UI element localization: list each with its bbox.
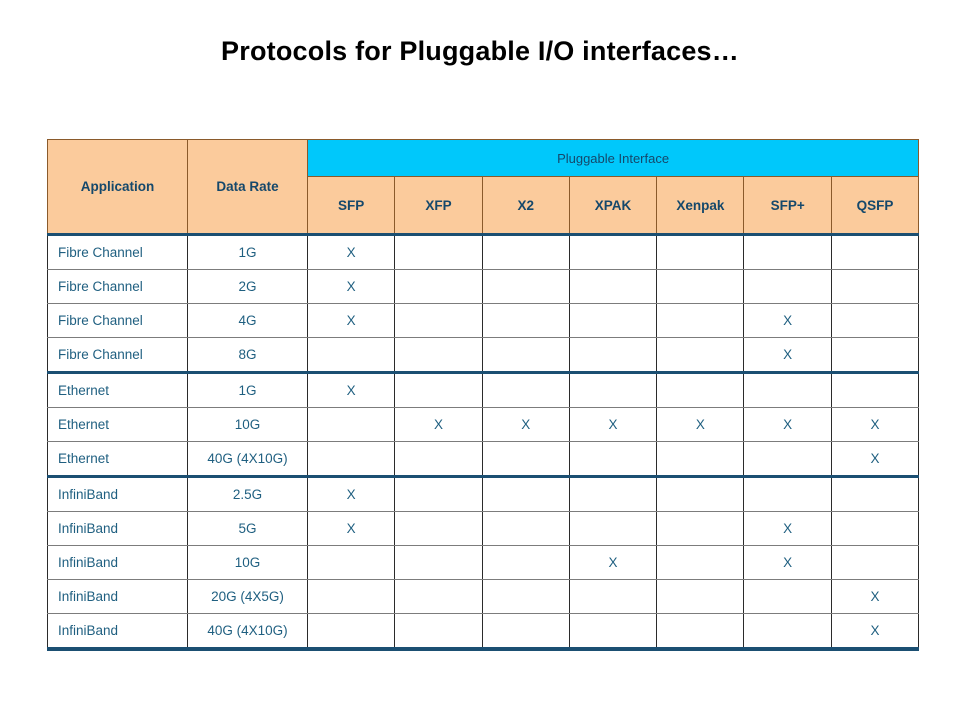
cell-data-rate: 2.5G bbox=[188, 477, 308, 512]
cell-support-xpak bbox=[569, 614, 656, 650]
cell-support-xpak bbox=[569, 512, 656, 546]
cell-support-sfp-plus bbox=[744, 373, 831, 408]
cell-data-rate: 20G (4X5G) bbox=[188, 580, 308, 614]
cell-support-sfp: X bbox=[308, 373, 395, 408]
cell-support-xfp bbox=[395, 477, 482, 512]
table-row: Fibre Channel4GXX bbox=[48, 304, 919, 338]
cell-data-rate: 40G (4X10G) bbox=[188, 614, 308, 650]
table-body: Fibre Channel1GXFibre Channel2GXFibre Ch… bbox=[48, 235, 919, 650]
cell-support-xenpak bbox=[657, 304, 744, 338]
table-row: Ethernet40G (4X10G)X bbox=[48, 442, 919, 477]
cell-support-sfp-plus: X bbox=[744, 338, 831, 373]
cell-data-rate: 8G bbox=[188, 338, 308, 373]
slide-canvas: Protocols for Pluggable I/O interfaces… … bbox=[0, 0, 960, 720]
cell-support-xenpak: X bbox=[657, 408, 744, 442]
column-header-x2: X2 bbox=[482, 177, 569, 235]
cell-application: InfiniBand bbox=[48, 614, 188, 650]
cell-support-xenpak bbox=[657, 338, 744, 373]
protocol-matrix-table: Application Data Rate Pluggable Interfac… bbox=[47, 139, 919, 651]
cell-support-x2 bbox=[482, 546, 569, 580]
cell-application: Fibre Channel bbox=[48, 304, 188, 338]
cell-data-rate: 5G bbox=[188, 512, 308, 546]
cell-support-sfp-plus bbox=[744, 442, 831, 477]
cell-support-xfp bbox=[395, 304, 482, 338]
cell-support-qsfp bbox=[831, 373, 918, 408]
cell-support-sfp: X bbox=[308, 477, 395, 512]
column-group-header-pluggable-interface: Pluggable Interface bbox=[308, 140, 919, 177]
cell-support-sfp-plus bbox=[744, 580, 831, 614]
table-row: Fibre Channel8GX bbox=[48, 338, 919, 373]
cell-data-rate: 10G bbox=[188, 408, 308, 442]
cell-support-x2 bbox=[482, 614, 569, 650]
cell-support-xenpak bbox=[657, 546, 744, 580]
cell-support-xpak bbox=[569, 442, 656, 477]
cell-data-rate: 1G bbox=[188, 373, 308, 408]
cell-support-sfp bbox=[308, 338, 395, 373]
cell-support-qsfp bbox=[831, 338, 918, 373]
table-row: Ethernet10GXXXXXX bbox=[48, 408, 919, 442]
cell-data-rate: 4G bbox=[188, 304, 308, 338]
cell-support-xfp bbox=[395, 235, 482, 270]
cell-support-xpak bbox=[569, 270, 656, 304]
cell-support-x2 bbox=[482, 270, 569, 304]
cell-support-sfp-plus: X bbox=[744, 546, 831, 580]
cell-application: InfiniBand bbox=[48, 512, 188, 546]
cell-support-xenpak bbox=[657, 235, 744, 270]
cell-support-x2 bbox=[482, 338, 569, 373]
table-row: Fibre Channel2GX bbox=[48, 270, 919, 304]
cell-support-xfp bbox=[395, 338, 482, 373]
column-header-xpak: XPAK bbox=[569, 177, 656, 235]
page-title: Protocols for Pluggable I/O interfaces… bbox=[0, 36, 960, 67]
cell-data-rate: 1G bbox=[188, 235, 308, 270]
cell-application: Ethernet bbox=[48, 373, 188, 408]
cell-support-sfp-plus bbox=[744, 477, 831, 512]
cell-support-xfp bbox=[395, 270, 482, 304]
protocol-matrix-container: Application Data Rate Pluggable Interfac… bbox=[47, 139, 918, 651]
cell-support-qsfp: X bbox=[831, 442, 918, 477]
table-row: InfiniBand10GXX bbox=[48, 546, 919, 580]
cell-support-xpak: X bbox=[569, 408, 656, 442]
cell-support-qsfp bbox=[831, 546, 918, 580]
cell-support-x2 bbox=[482, 235, 569, 270]
table-header: Application Data Rate Pluggable Interfac… bbox=[48, 140, 919, 235]
cell-support-xenpak bbox=[657, 580, 744, 614]
cell-support-xfp: X bbox=[395, 408, 482, 442]
column-header-application: Application bbox=[48, 140, 188, 235]
table-header-row-top: Application Data Rate Pluggable Interfac… bbox=[48, 140, 919, 177]
cell-support-qsfp: X bbox=[831, 408, 918, 442]
column-header-sfp: SFP bbox=[308, 177, 395, 235]
cell-application: InfiniBand bbox=[48, 477, 188, 512]
cell-support-xfp bbox=[395, 614, 482, 650]
cell-support-xenpak bbox=[657, 270, 744, 304]
cell-support-xfp bbox=[395, 512, 482, 546]
cell-support-sfp bbox=[308, 408, 395, 442]
cell-support-sfp bbox=[308, 546, 395, 580]
column-header-xfp: XFP bbox=[395, 177, 482, 235]
cell-support-sfp bbox=[308, 580, 395, 614]
cell-support-sfp: X bbox=[308, 304, 395, 338]
table-row: Fibre Channel1GX bbox=[48, 235, 919, 270]
cell-support-xfp bbox=[395, 580, 482, 614]
cell-support-sfp bbox=[308, 442, 395, 477]
column-header-data-rate: Data Rate bbox=[188, 140, 308, 235]
cell-support-sfp bbox=[308, 614, 395, 650]
cell-application: InfiniBand bbox=[48, 580, 188, 614]
cell-support-sfp: X bbox=[308, 270, 395, 304]
cell-support-qsfp bbox=[831, 270, 918, 304]
cell-application: Ethernet bbox=[48, 442, 188, 477]
cell-support-xenpak bbox=[657, 373, 744, 408]
table-row: InfiniBand40G (4X10G)X bbox=[48, 614, 919, 650]
cell-data-rate: 10G bbox=[188, 546, 308, 580]
cell-application: Fibre Channel bbox=[48, 235, 188, 270]
cell-support-xpak bbox=[569, 304, 656, 338]
cell-support-sfp: X bbox=[308, 512, 395, 546]
cell-data-rate: 2G bbox=[188, 270, 308, 304]
cell-support-sfp: X bbox=[308, 235, 395, 270]
cell-support-qsfp: X bbox=[831, 614, 918, 650]
cell-data-rate: 40G (4X10G) bbox=[188, 442, 308, 477]
cell-support-x2 bbox=[482, 580, 569, 614]
cell-support-qsfp bbox=[831, 304, 918, 338]
table-row: InfiniBand5GXX bbox=[48, 512, 919, 546]
cell-support-xpak bbox=[569, 580, 656, 614]
cell-support-x2: X bbox=[482, 408, 569, 442]
table-row: Ethernet1GX bbox=[48, 373, 919, 408]
cell-support-xfp bbox=[395, 442, 482, 477]
cell-support-x2 bbox=[482, 512, 569, 546]
cell-support-sfp-plus bbox=[744, 270, 831, 304]
cell-support-xpak bbox=[569, 373, 656, 408]
cell-support-xpak: X bbox=[569, 546, 656, 580]
cell-support-xpak bbox=[569, 477, 656, 512]
cell-support-qsfp bbox=[831, 235, 918, 270]
cell-support-x2 bbox=[482, 373, 569, 408]
cell-support-qsfp bbox=[831, 477, 918, 512]
cell-support-qsfp: X bbox=[831, 580, 918, 614]
column-header-xenpak: Xenpak bbox=[657, 177, 744, 235]
cell-support-sfp-plus: X bbox=[744, 304, 831, 338]
cell-application: Ethernet bbox=[48, 408, 188, 442]
table-row: InfiniBand20G (4X5G)X bbox=[48, 580, 919, 614]
cell-support-xfp bbox=[395, 373, 482, 408]
cell-application: Fibre Channel bbox=[48, 338, 188, 373]
cell-support-sfp-plus bbox=[744, 614, 831, 650]
cell-application: Fibre Channel bbox=[48, 270, 188, 304]
cell-support-xpak bbox=[569, 338, 656, 373]
cell-support-x2 bbox=[482, 304, 569, 338]
cell-support-xenpak bbox=[657, 512, 744, 546]
cell-support-qsfp bbox=[831, 512, 918, 546]
cell-support-xenpak bbox=[657, 477, 744, 512]
cell-support-xfp bbox=[395, 546, 482, 580]
cell-support-x2 bbox=[482, 477, 569, 512]
column-header-sfp-plus: SFP+ bbox=[744, 177, 831, 235]
column-header-qsfp: QSFP bbox=[831, 177, 918, 235]
cell-support-sfp-plus: X bbox=[744, 512, 831, 546]
cell-support-xenpak bbox=[657, 614, 744, 650]
cell-support-xenpak bbox=[657, 442, 744, 477]
cell-support-x2 bbox=[482, 442, 569, 477]
cell-application: InfiniBand bbox=[48, 546, 188, 580]
cell-support-sfp-plus: X bbox=[744, 408, 831, 442]
cell-support-sfp-plus bbox=[744, 235, 831, 270]
cell-support-xpak bbox=[569, 235, 656, 270]
table-row: InfiniBand2.5GX bbox=[48, 477, 919, 512]
